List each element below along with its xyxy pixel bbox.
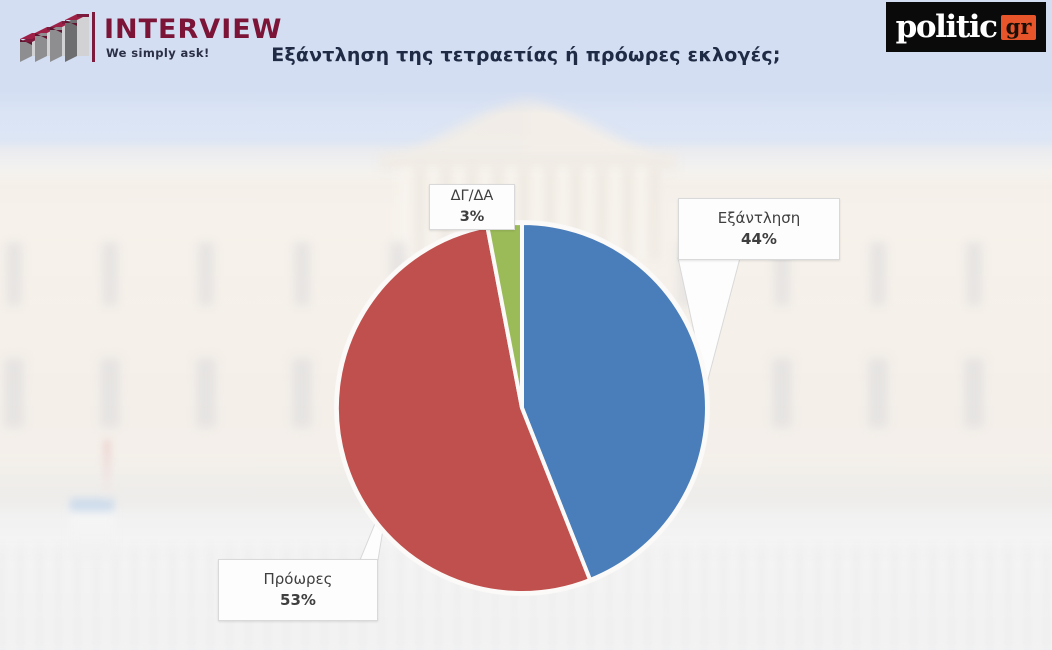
poll-infographic: INTERVIEW We simply ask! politic gr Εξάν… xyxy=(0,0,1052,650)
callout-proores-label: Πρόωρες xyxy=(264,569,333,590)
callout-dgda[interactable]: ΔΓ/ΔΑ 3% xyxy=(429,184,515,230)
callout-exantlisi-value: 44% xyxy=(741,229,777,250)
pie-slices xyxy=(337,223,707,593)
callout-dgda-label: ΔΓ/ΔΑ xyxy=(451,186,494,207)
callout-dgda-value: 3% xyxy=(460,207,485,228)
callout-exantlisi[interactable]: Εξάντληση 44% xyxy=(678,198,840,260)
callout-exantlisi-label: Εξάντληση xyxy=(718,208,801,229)
callout-proores[interactable]: Πρόωρες 53% xyxy=(218,559,378,621)
callout-proores-value: 53% xyxy=(280,590,316,611)
pie-chart xyxy=(0,0,1052,650)
